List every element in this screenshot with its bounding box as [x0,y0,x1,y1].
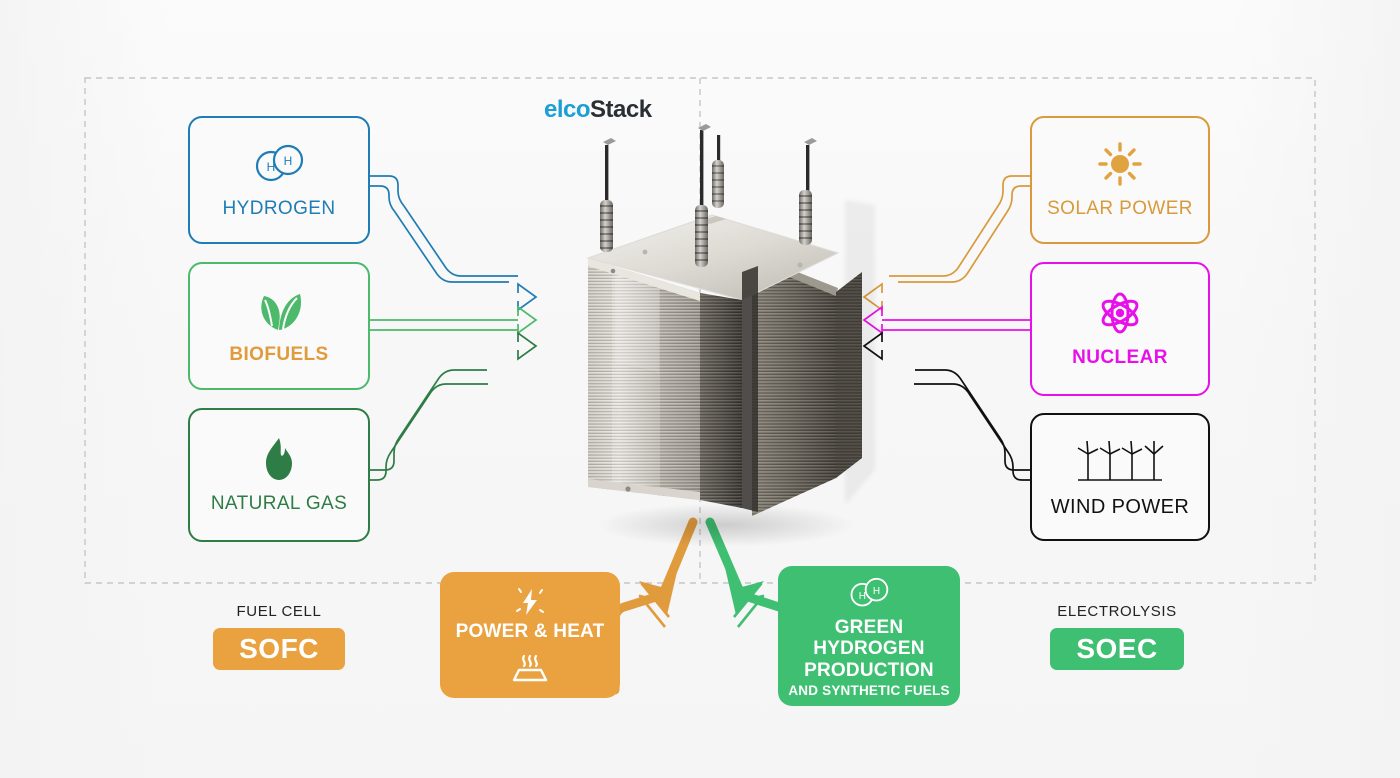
wind-turbines-icon [1070,434,1170,486]
source-card-label: BIOFUELS [229,344,328,366]
foot-label-title: ELECTROLYSIS [1017,603,1217,620]
foot-label-title: FUEL CELL [179,603,379,620]
source-card-label: NUCLEAR [1072,347,1168,369]
badge-soec[interactable]: SOEC [1050,628,1183,670]
source-card-wind-power[interactable]: WIND POWER [1030,413,1210,541]
heat-waves-icon [506,649,554,683]
flame-icon [254,435,304,483]
output-box-title: POWER & HEAT [456,621,605,642]
svg-text:H: H [859,591,866,602]
output-box-subtitle: AND SYNTHETIC FUELS [788,683,949,699]
source-card-natural-gas[interactable]: NATURAL GAS [188,408,370,542]
output-box-green-hydrogen[interactable]: H H GREEN HYDROGEN PRODUCTION AND SYNTHE… [778,566,960,706]
lightning-bolt-icon [513,587,547,617]
output-box-power-and-heat[interactable]: POWER & HEAT [440,572,620,698]
svg-text:H: H [284,154,293,168]
source-card-label: SOLAR POWER [1047,198,1193,220]
badge-sofc[interactable]: SOFC [213,628,345,670]
source-card-label: NATURAL GAS [211,493,347,515]
stack-front-column [588,258,742,508]
leaf-icon [252,286,306,334]
atom-icon [1094,289,1146,337]
foot-label-fuel-cell: FUEL CELL SOFC [179,603,379,670]
source-card-biofuels[interactable]: BIOFUELS [188,262,370,390]
foot-label-electrolysis: ELECTROLYSIS SOEC [1017,603,1217,670]
sun-icon [1094,140,1146,188]
infographic-canvas: elcoStack [0,0,1400,778]
hydrogen-molecule-icon: H H [841,573,897,613]
source-card-label: HYDROGEN [223,198,336,220]
output-box-title: GREEN HYDROGEN PRODUCTION [788,617,950,681]
source-card-hydrogen[interactable]: H H HYDROGEN [188,116,370,244]
source-card-nuclear[interactable]: NUCLEAR [1030,262,1210,396]
svg-text:H: H [873,586,880,597]
svg-text:H: H [267,160,276,174]
source-card-label: WIND POWER [1051,496,1189,520]
hydrogen-molecule-icon: H H [247,140,311,188]
source-card-solar-power[interactable]: SOLAR POWER [1030,116,1210,244]
